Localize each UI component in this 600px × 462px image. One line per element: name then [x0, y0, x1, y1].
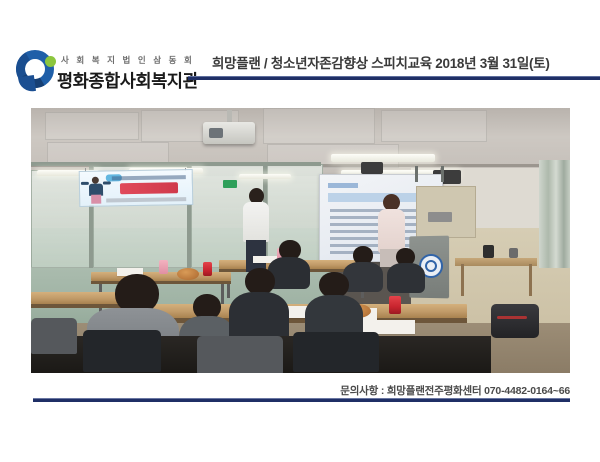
ceiling-panel — [45, 112, 139, 140]
person-head — [245, 268, 275, 295]
chair — [31, 318, 77, 354]
slide-header-bar — [328, 183, 358, 188]
chair — [197, 336, 283, 373]
drink-can — [389, 296, 401, 314]
backpack-stripe — [497, 316, 527, 319]
chair — [83, 330, 161, 372]
banner-person-legs — [91, 195, 101, 204]
cup — [509, 248, 518, 258]
banner-person-arm — [81, 182, 89, 185]
kettle — [483, 245, 494, 258]
event-photo — [31, 108, 570, 373]
page-title: 희망플랜 / 청소년자존감향상 스피치교육 2018년 3월 31일(토) — [212, 52, 550, 72]
banner-subtitle-text — [112, 175, 186, 180]
attendee-seated — [229, 268, 289, 338]
event-photo-canvas — [31, 108, 570, 373]
page-header: 사 회 복 지 법 인 삼 동 회 평화종합사회복지관 희망플랜 / 청소년자존… — [0, 0, 600, 100]
banner-footer-text — [106, 197, 186, 202]
side-table-leg — [529, 264, 532, 296]
projector-icon — [203, 122, 255, 144]
logo-subtitle: 사 회 복 지 법 인 삼 동 회 — [61, 54, 194, 66]
ceiling-light — [239, 174, 291, 179]
wall-speaker — [361, 162, 383, 174]
logo-tail-shape — [18, 75, 36, 93]
podium-leg — [441, 166, 444, 182]
podium-emblem-inner — [425, 260, 437, 272]
projector-lens — [209, 128, 223, 138]
ceiling-panel — [263, 108, 375, 144]
person-body — [229, 292, 289, 342]
circular-ring-logo-mark-icon — [16, 50, 58, 90]
footer-divider — [33, 398, 570, 402]
ceiling-light — [331, 154, 435, 162]
attendee-seated — [305, 272, 363, 338]
wall-switch-plate — [428, 212, 452, 222]
header-divider — [188, 76, 600, 80]
podium-leg — [415, 166, 418, 182]
exit-sign-icon — [223, 180, 237, 188]
pastry — [177, 268, 199, 280]
event-banner — [79, 169, 194, 207]
drink-can — [159, 260, 168, 274]
backpack — [491, 304, 539, 338]
banner-person-illustration — [87, 177, 105, 203]
person-body — [387, 263, 425, 293]
attendee-seated — [387, 248, 425, 292]
banner-main-title-text — [120, 182, 178, 194]
glass-header-rail — [31, 162, 321, 166]
window-curtain — [539, 160, 570, 268]
chair — [293, 332, 379, 372]
logo-title: 평화종합사회복지관 — [57, 68, 198, 93]
drink-can — [203, 262, 212, 276]
person-body — [243, 202, 269, 242]
side-table-leg — [461, 264, 464, 296]
banner-person-arm — [103, 181, 111, 184]
ceiling-panel — [381, 110, 487, 142]
footer-contact: 문의사항 : 희망플랜전주평화센터 070-4482-0164~66 — [0, 383, 570, 398]
logo-green-dot-icon — [45, 56, 56, 67]
organization-logo: 사 회 복 지 법 인 삼 동 회 평화종합사회복지관 — [16, 48, 191, 96]
side-table — [455, 258, 537, 266]
